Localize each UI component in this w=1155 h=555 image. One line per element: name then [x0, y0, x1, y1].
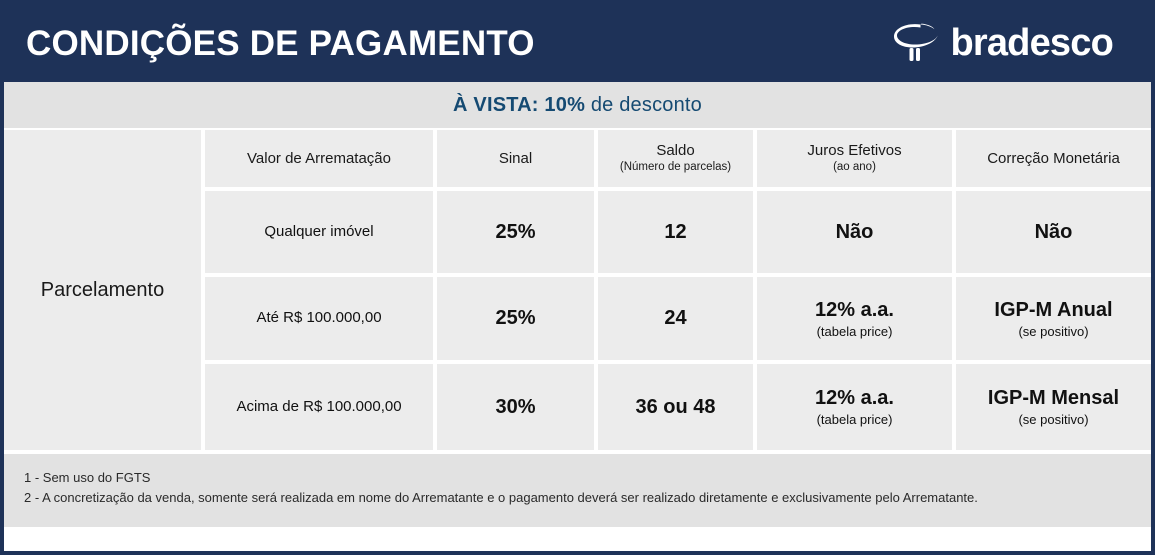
cell-sinal: 30% — [437, 364, 598, 450]
column-header-label: Saldo — [656, 142, 694, 159]
cell-valor: Até R$ 100.000,00 — [205, 277, 437, 359]
cell-value: 30% — [495, 395, 535, 419]
cell-value: Não — [836, 220, 874, 244]
footnote-2: 2 - A concretização da venda, somente se… — [24, 488, 1151, 508]
cell-correcao: Não — [956, 191, 1151, 273]
column-header-label: Juros Efetivos — [807, 142, 901, 159]
row-group-label-cell: Parcelamento — [4, 130, 205, 450]
cell-sinal: 25% — [437, 277, 598, 359]
cell-value: 12 — [664, 220, 686, 244]
cell-value: Qualquer imóvel — [264, 223, 373, 241]
column-header-sublabel: (ao ano) — [833, 161, 876, 175]
cell-value: 12% a.a. — [815, 386, 894, 410]
column-header-correcao: Correção Monetária — [956, 130, 1151, 187]
table-header-row: Valor de Arrematação Sinal Saldo (Número… — [205, 130, 1151, 191]
brand-name: bradesco — [950, 24, 1113, 62]
cell-saldo: 24 — [598, 277, 757, 359]
cell-value: Até R$ 100.000,00 — [256, 309, 381, 327]
bradesco-tree-logo-icon — [890, 20, 942, 66]
discount-text: À VISTA: 10% de desconto — [453, 94, 702, 117]
column-header-sinal: Sinal — [437, 130, 598, 187]
cell-sinal: 25% — [437, 191, 598, 273]
discount-strong: À VISTA: 10% — [453, 94, 585, 116]
row-group-label: Parcelamento — [41, 279, 164, 302]
cell-valor: Acima de R$ 100.000,00 — [205, 364, 437, 450]
cell-juros: Não — [757, 191, 956, 273]
cell-valor: Qualquer imóvel — [205, 191, 437, 273]
cell-value: 25% — [495, 220, 535, 244]
column-header-saldo: Saldo (Número de parcelas) — [598, 130, 757, 187]
cell-value: 36 ou 48 — [635, 395, 715, 419]
brand-logo: bradesco — [890, 20, 1135, 66]
cell-subvalue: (se positivo) — [1018, 412, 1088, 428]
cell-value: 24 — [664, 306, 686, 330]
cell-correcao: IGP-M Anual (se positivo) — [956, 277, 1151, 359]
cell-saldo: 36 ou 48 — [598, 364, 757, 450]
column-header-valor: Valor de Arrematação — [205, 130, 437, 187]
cell-juros: 12% a.a. (tabela price) — [757, 277, 956, 359]
table-row: Até R$ 100.000,00 25% 24 12% a.a. (tabel… — [205, 277, 1151, 363]
cell-juros: 12% a.a. (tabela price) — [757, 364, 956, 450]
cell-subvalue: (tabela price) — [817, 324, 893, 340]
conditions-table: Parcelamento Valor de Arrematação Sinal … — [4, 130, 1151, 450]
column-header-sublabel: (Número de parcelas) — [620, 161, 731, 175]
discount-rest: de desconto — [585, 94, 702, 116]
cell-value: IGP-M Anual — [994, 298, 1112, 322]
column-header-label: Valor de Arrematação — [247, 150, 391, 167]
payment-conditions-card: CONDIÇÕES DE PAGAMENTO bradesco À VISTA:… — [0, 0, 1155, 555]
footnote-1: 1 - Sem uso do FGTS — [24, 468, 1151, 488]
table-grid: Valor de Arrematação Sinal Saldo (Número… — [205, 130, 1151, 450]
cell-value: 25% — [495, 306, 535, 330]
page-title: CONDIÇÕES DE PAGAMENTO — [26, 26, 535, 61]
card-header: CONDIÇÕES DE PAGAMENTO bradesco — [4, 4, 1151, 82]
table-row: Acima de R$ 100.000,00 30% 36 ou 48 12% … — [205, 364, 1151, 450]
table-row: Qualquer imóvel 25% 12 Não Não — [205, 191, 1151, 277]
column-header-label: Sinal — [499, 150, 532, 167]
cell-subvalue: (se positivo) — [1018, 324, 1088, 340]
cell-value: Não — [1035, 220, 1073, 244]
column-header-juros: Juros Efetivos (ao ano) — [757, 130, 956, 187]
cell-correcao: IGP-M Mensal (se positivo) — [956, 364, 1151, 450]
footnotes: 1 - Sem uso do FGTS 2 - A concretização … — [4, 450, 1151, 527]
column-header-label: Correção Monetária — [987, 150, 1120, 167]
cell-value: 12% a.a. — [815, 298, 894, 322]
cell-value: IGP-M Mensal — [988, 386, 1119, 410]
cell-value: Acima de R$ 100.000,00 — [236, 398, 401, 416]
discount-banner: À VISTA: 10% de desconto — [4, 82, 1151, 130]
cell-saldo: 12 — [598, 191, 757, 273]
cell-subvalue: (tabela price) — [817, 412, 893, 428]
